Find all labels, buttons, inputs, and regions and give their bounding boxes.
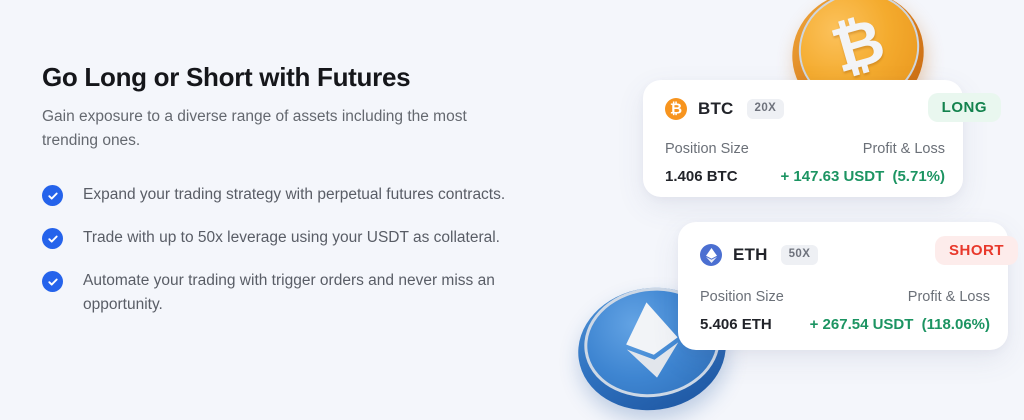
hero-subtitle: Gain exposure to a diverse range of asse… — [42, 105, 522, 153]
leverage-badge: 20X — [747, 99, 785, 119]
pnl-block: Profit & Loss + 267.54 USDT (118.06%) — [810, 287, 990, 335]
list-item: Automate your trading with trigger order… — [42, 269, 562, 317]
pnl-value-row: + 147.63 USDT (5.71%) — [780, 166, 945, 187]
futures-illustration: ₿ ₿ BTC 20X — [560, 0, 1024, 412]
position-size-block: Position Size 5.406 ETH — [700, 287, 784, 335]
pnl-amount: + 147.63 USDT — [780, 168, 884, 185]
position-size-block: Position Size 1.406 BTC — [665, 139, 749, 187]
asset-symbol: ETH — [733, 245, 768, 265]
bitcoin-glyph: ₿ — [670, 101, 682, 116]
pnl-percent: (5.71%) — [892, 168, 945, 185]
futures-promo-section: Go Long or Short with Futures Gain expos… — [0, 0, 1024, 412]
card-stats: Position Size 1.406 BTC Profit & Loss + … — [665, 139, 945, 187]
asset-symbol: BTC — [698, 99, 734, 119]
check-circle-icon — [42, 228, 63, 249]
bitcoin-symbol-icon: ₿ — [826, 10, 892, 84]
ethereum-icon — [700, 244, 722, 266]
pnl-amount: + 267.54 USDT — [810, 316, 914, 333]
card-stats: Position Size 5.406 ETH Profit & Loss + … — [700, 287, 990, 335]
status-badge-long: LONG — [928, 93, 1001, 122]
bitcoin-icon: ₿ — [665, 98, 687, 120]
ethereum-symbol-icon — [621, 301, 683, 383]
pnl-label: Profit & Loss — [810, 287, 990, 309]
check-circle-icon — [42, 185, 63, 206]
position-size-label: Position Size — [665, 139, 749, 161]
position-card-btc[interactable]: ₿ BTC 20X LONG Position Size 1.406 BTC P… — [643, 80, 963, 197]
page-title: Go Long or Short with Futures — [42, 62, 562, 93]
check-circle-icon — [42, 271, 63, 292]
pnl-percent: (118.06%) — [922, 316, 990, 333]
position-card-eth[interactable]: ETH 50X SHORT Position Size 5.406 ETH Pr… — [678, 222, 1008, 350]
position-size-value: 5.406 ETH — [700, 314, 784, 335]
pnl-value-row: + 267.54 USDT (118.06%) — [810, 314, 990, 335]
feature-text: Trade with up to 50x leverage using your… — [83, 226, 500, 250]
list-item: Expand your trading strategy with perpet… — [42, 183, 562, 207]
feature-text: Automate your trading with trigger order… — [83, 269, 533, 317]
position-size-label: Position Size — [700, 287, 784, 309]
leverage-badge: 50X — [781, 245, 819, 265]
pnl-block: Profit & Loss + 147.63 USDT (5.71%) — [780, 139, 945, 187]
pnl-label: Profit & Loss — [780, 139, 945, 161]
status-badge-short: SHORT — [935, 236, 1018, 265]
feature-text: Expand your trading strategy with perpet… — [83, 183, 505, 207]
feature-list: Expand your trading strategy with perpet… — [42, 183, 562, 317]
hero-text-column: Go Long or Short with Futures Gain expos… — [42, 62, 562, 317]
list-item: Trade with up to 50x leverage using your… — [42, 226, 562, 250]
position-size-value: 1.406 BTC — [665, 166, 749, 187]
card-header: ₿ BTC 20X — [665, 94, 945, 124]
